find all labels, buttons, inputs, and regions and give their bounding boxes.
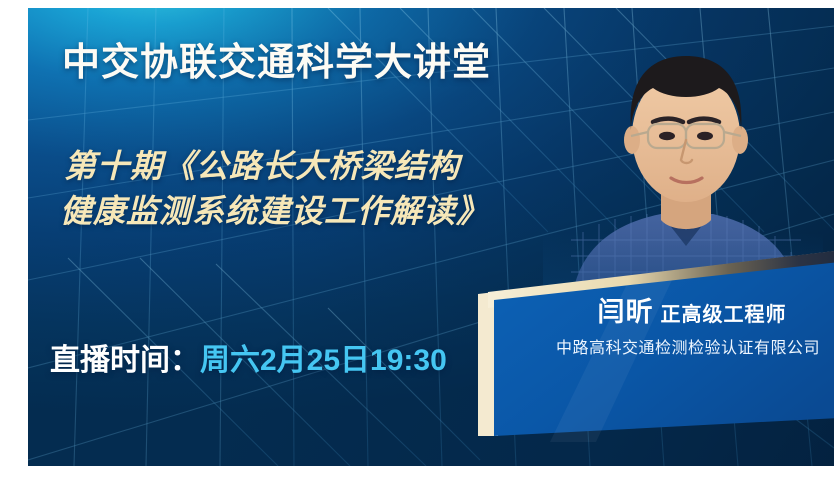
live-time-label: 直播时间： <box>50 344 200 377</box>
live-time-value: 周六2月25日19:30 <box>200 344 447 377</box>
page-title: 中交协联交通科学大讲堂 <box>62 31 491 86</box>
live-time: 直播时间：周六2月25日19:30 <box>50 335 447 379</box>
speaker-info-panel: 闫昕正高级工程师 中路高科交通检测检验认证有限公司 <box>476 246 834 456</box>
episode-subtitle: 第十期《公路长大桥梁结构 健康监测系统建设工作解读》 <box>64 144 489 235</box>
subtitle-line-2: 健康监测系统建设工作解读》 <box>60 189 489 234</box>
poster-canvas: 中交协联交通科学大讲堂 第十期《公路长大桥梁结构 健康监测系统建设工作解读》 <box>28 8 834 466</box>
subtitle-line-1: 第十期《公路长大桥梁结构 <box>64 144 489 189</box>
